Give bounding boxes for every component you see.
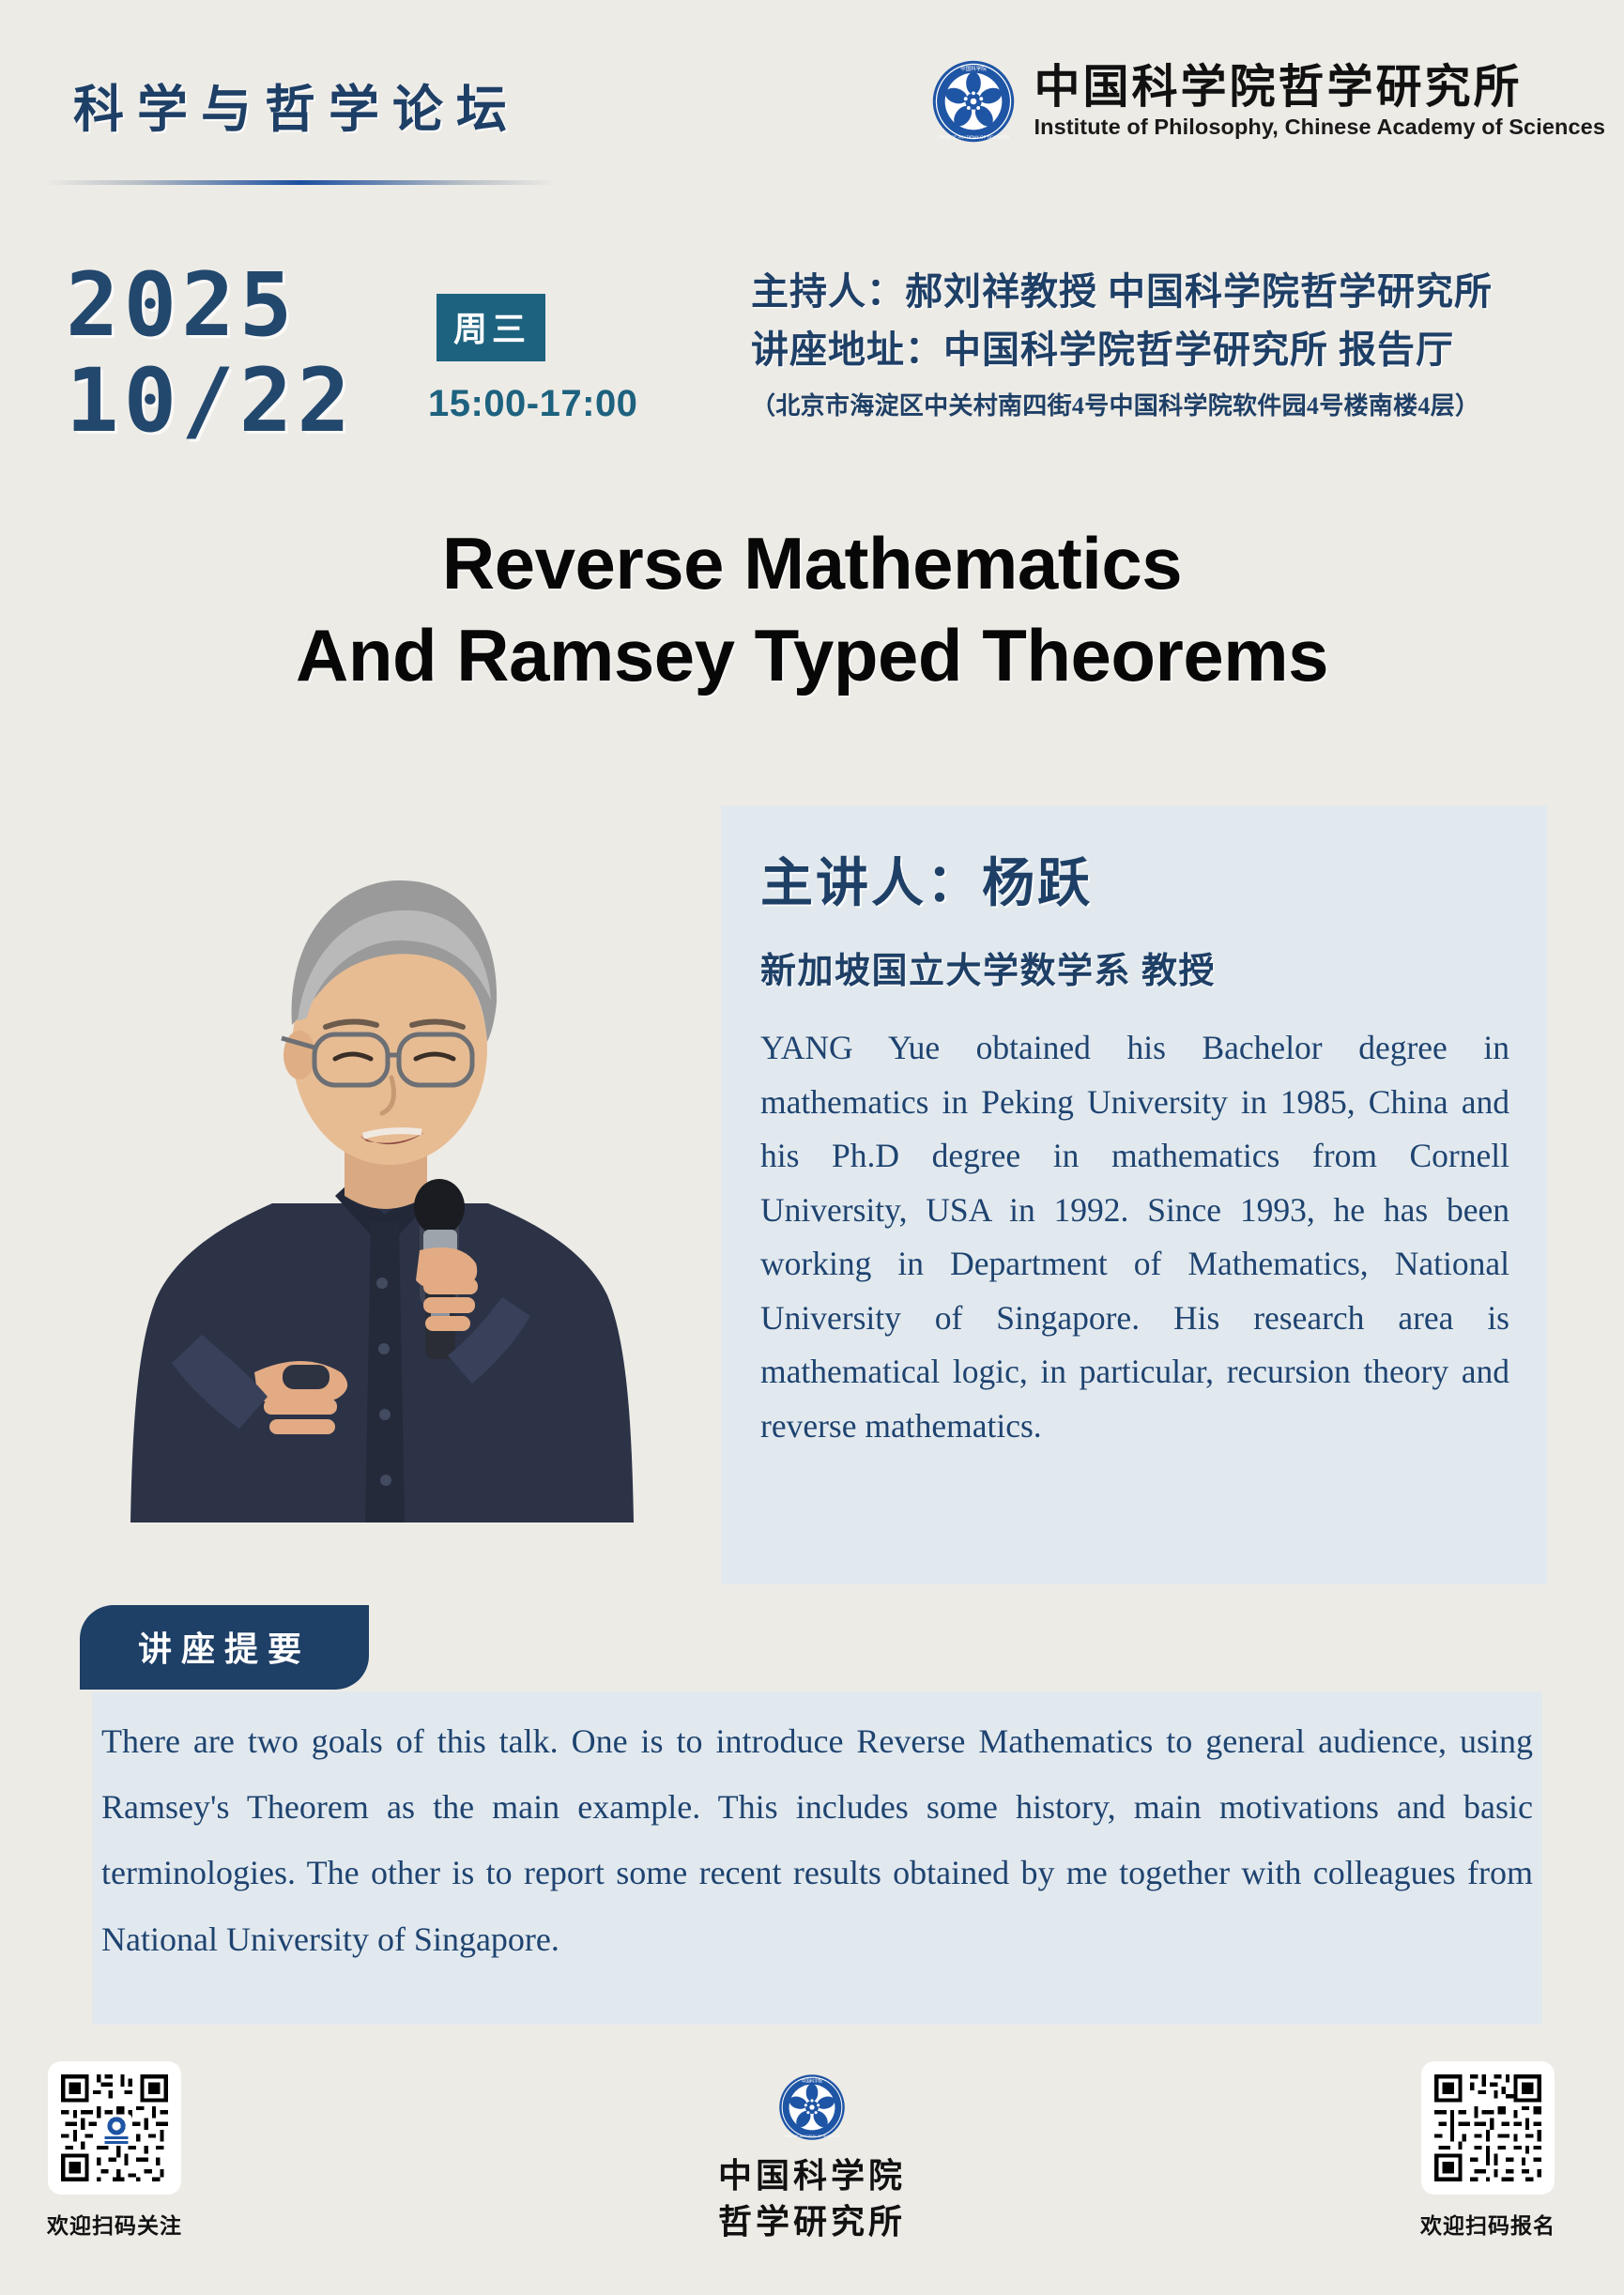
host-line: 主持人：郝刘祥教授 中国科学院哲学研究所	[751, 263, 1568, 321]
speaker-info-panel: 主讲人：杨跃 新加坡国立大学数学系 教授 YANG Yue obtained h…	[721, 805, 1547, 1584]
footer-org-line2: 哲学研究所	[718, 2199, 906, 2245]
svg-text:中国科学院: 中国科学院	[802, 2077, 823, 2084]
venue-line: 讲座地址：中国科学院哲学研究所 报告厅	[751, 321, 1568, 379]
qr-code-icon-register[interactable]	[1421, 2061, 1555, 2195]
venue-address: （北京市海淀区中关村南四街4号中国科学院软件园4号楼南楼4层）	[751, 387, 1568, 421]
speaker-photo	[89, 809, 681, 1522]
organization-names: 中国科学院哲学研究所 Institute of Philosophy, Chin…	[1034, 63, 1605, 140]
cas-seal-icon: 中国科学院 CHINESE ACADEMY OF SCIENCES	[930, 58, 1017, 145]
qr-register-caption: 欢迎扫码报名	[1420, 2208, 1555, 2240]
speaker-affiliation: 新加坡国立大学数学系 教授	[760, 941, 1509, 993]
forum-title: 科学与哲学论坛	[73, 68, 520, 142]
footer-org-line1: 中国科学院	[718, 2153, 906, 2199]
organization-header: 中国科学院 CHINESE ACADEMY OF SCIENCES 中国科学院哲…	[930, 58, 1605, 145]
qr-register-block[interactable]: 欢迎扫码报名	[1420, 2061, 1555, 2240]
talk-title-line2: And Ramsey Typed Theorems	[0, 610, 1624, 702]
event-date-block: 2025 10/22	[66, 258, 355, 449]
organization-name-cn: 中国科学院哲学研究所	[1034, 63, 1605, 111]
event-year: 2025	[66, 258, 355, 354]
abstract-section-header: 讲座提要	[80, 1605, 369, 1690]
header-divider	[45, 180, 557, 185]
abstract-body: There are two goals of this talk. One is…	[101, 1708, 1533, 1972]
footer-logo-block: 中国科学院 CHINESE ACADEMY OF SCIENCES 中国科学院 …	[0, 2073, 1624, 2244]
poster-root: 科学与哲学论坛	[0, 0, 1624, 2295]
weekday-badge: 周三	[437, 294, 545, 361]
talk-title-line1: Reverse Mathematics	[0, 518, 1624, 610]
footer-organization-names: 中国科学院 哲学研究所	[718, 2153, 906, 2244]
speaker-bio: YANG Yue obtained his Bachelor degree in…	[760, 1021, 1509, 1453]
svg-text:CHINESE ACADEMY OF SCIENCES: CHINESE ACADEMY OF SCIENCES	[938, 135, 1010, 140]
event-date: 10/22	[66, 354, 355, 450]
svg-text:CHINESE ACADEMY OF SCIENCES: CHINESE ACADEMY OF SCIENCES	[783, 2134, 841, 2138]
event-meta-block: 主持人：郝刘祥教授 中国科学院哲学研究所 讲座地址：中国科学院哲学研究所 报告厅…	[751, 263, 1568, 421]
speaker-name: 主讲人：杨跃	[760, 841, 1509, 917]
svg-text:中国科学院: 中国科学院	[961, 65, 988, 72]
cas-seal-icon-footer: 中国科学院 CHINESE ACADEMY OF SCIENCES	[777, 2073, 847, 2142]
organization-name-en: Institute of Philosophy, Chinese Academy…	[1034, 115, 1605, 140]
talk-title: Reverse Mathematics And Ramsey Typed The…	[0, 518, 1624, 701]
event-time: 15:00-17:00	[428, 383, 637, 425]
